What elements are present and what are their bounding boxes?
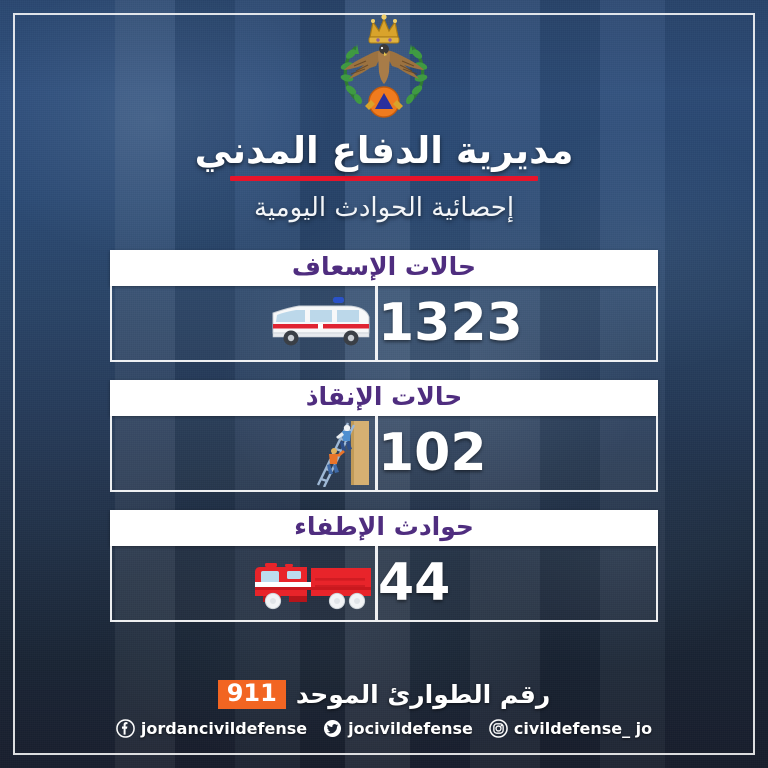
twitter-icon[interactable] bbox=[323, 719, 342, 738]
stat-icon-cell bbox=[112, 286, 375, 360]
crest-logo bbox=[0, 12, 768, 124]
stat-value: 102 bbox=[378, 427, 487, 479]
stat-card-body: 1323 bbox=[110, 286, 658, 362]
title-block: مديرية الدفاع المدني إحصائية الحوادث الي… bbox=[0, 128, 768, 223]
stat-card-label: حالات الإنقاذ bbox=[306, 384, 463, 412]
stat-value-cell: 102 bbox=[378, 416, 656, 490]
infographic-poster: مديرية الدفاع المدني إحصائية الحوادث الي… bbox=[0, 0, 768, 768]
stat-card-label: حالات الإسعاف bbox=[292, 254, 476, 282]
instagram-icon[interactable] bbox=[489, 719, 508, 738]
stat-value-cell: 44 bbox=[378, 546, 656, 620]
stat-value: 1323 bbox=[378, 297, 523, 349]
footer: رقم الطوارئ الموحد 911 jordancivildefens… bbox=[0, 680, 768, 738]
stat-card-ambulance: حالات الإسعاف 1323 bbox=[110, 250, 658, 362]
page-subtitle: إحصائية الحوادث اليومية bbox=[0, 193, 768, 223]
stat-card-body: 102 bbox=[110, 416, 658, 492]
stat-card-label: حوادث الإطفاء bbox=[294, 514, 474, 542]
stat-card-fire: حوادث الإطفاء 44 bbox=[110, 510, 658, 622]
stat-icon-cell bbox=[112, 546, 375, 620]
stat-icon-cell bbox=[112, 416, 375, 490]
fire-truck-icon bbox=[249, 554, 375, 612]
statistics-cards: حالات الإسعاف 1323 bbox=[0, 250, 768, 640]
title-underline-rule bbox=[230, 176, 538, 181]
stat-card-body: 44 bbox=[110, 546, 658, 622]
twitter-handle[interactable]: jocivildefense bbox=[348, 719, 473, 738]
stat-card-header: حالات الإنقاذ bbox=[110, 380, 658, 416]
cell-divider bbox=[375, 286, 378, 360]
cell-divider bbox=[375, 546, 378, 620]
social-link-instagram[interactable]: civildefense_ jo bbox=[489, 719, 652, 738]
stat-card-header: حوادث الإطفاء bbox=[110, 510, 658, 546]
instagram-handle[interactable]: civildefense_ jo bbox=[514, 719, 652, 738]
stat-card-rescue: حالات الإنقاذ 102 bbox=[110, 380, 658, 492]
stat-card-header: حالات الإسعاف bbox=[110, 250, 658, 286]
stat-value-cell: 1323 bbox=[378, 286, 656, 360]
emergency-number-badge: 911 bbox=[218, 680, 286, 709]
facebook-icon[interactable] bbox=[116, 719, 135, 738]
ladder-rescue-icon bbox=[311, 419, 375, 487]
cell-divider bbox=[375, 416, 378, 490]
facebook-handle[interactable]: jordancivildefense bbox=[141, 719, 307, 738]
social-link-facebook[interactable]: jordancivildefense bbox=[116, 719, 307, 738]
emergency-label: رقم الطوارئ الموحد bbox=[296, 680, 550, 709]
stat-value: 44 bbox=[378, 557, 450, 609]
emergency-number-row: رقم الطوارئ الموحد 911 bbox=[0, 680, 768, 709]
page-title: مديرية الدفاع المدني bbox=[0, 128, 768, 174]
social-links-row: jordancivildefense jocivildefense bbox=[0, 719, 768, 738]
social-link-twitter[interactable]: jocivildefense bbox=[323, 719, 473, 738]
ambulance-icon bbox=[263, 295, 375, 351]
civil-defense-crest-falcon-crown-icon bbox=[324, 14, 444, 122]
